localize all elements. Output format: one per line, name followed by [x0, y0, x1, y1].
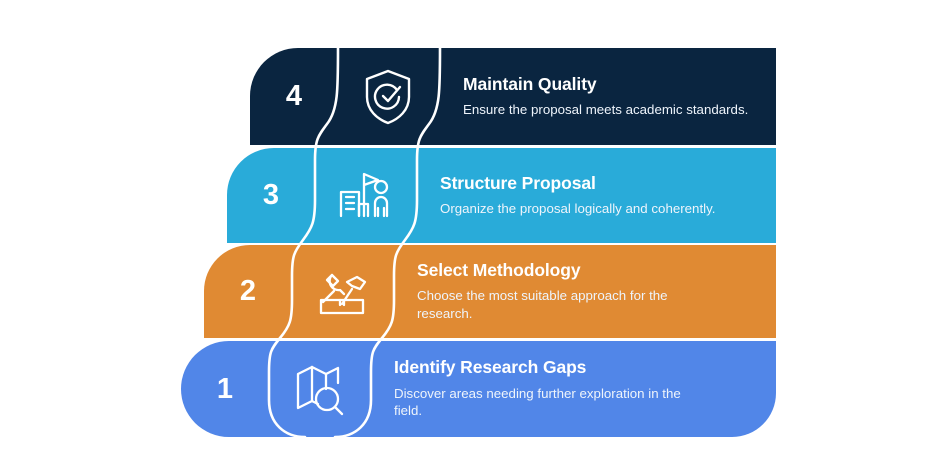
toolbox-wrench-hammer-icon	[314, 266, 370, 318]
step-number-4: 4	[250, 48, 338, 145]
step-description-4: Ensure the proposal meets academic stand…	[463, 101, 762, 119]
step-title-2: Select Methodology	[417, 261, 762, 280]
step-icon-3	[315, 148, 415, 243]
step-row-3[interactable]: 3 Structure Proposal Organize the propos…	[227, 148, 776, 243]
infographic-stage: 4 Maintain Quality Ensure the proposal m…	[0, 0, 952, 473]
step-row-4[interactable]: 4 Maintain Quality Ensure the proposal m…	[250, 48, 776, 145]
step-description-1: Discover areas needing further explorati…	[394, 385, 699, 420]
step-text-4: Maintain Quality Ensure the proposal mee…	[463, 48, 776, 145]
step-icon-1	[269, 341, 369, 437]
step-row-2[interactable]: 2 Select Methodology Choose the most sui…	[204, 245, 776, 338]
shield-check-icon	[362, 68, 414, 126]
step-number-1: 1	[181, 341, 269, 437]
step-text-3: Structure Proposal Organize the proposal…	[440, 148, 776, 243]
step-icon-4	[338, 48, 438, 145]
step-description-3: Organize the proposal logically and cohe…	[440, 200, 745, 218]
step-text-2: Select Methodology Choose the most suita…	[417, 245, 776, 338]
step-title-4: Maintain Quality	[463, 75, 762, 94]
map-search-icon	[292, 361, 346, 417]
step-number-3: 3	[227, 148, 315, 243]
step-row-1[interactable]: 1 Identify Research Gaps Discover areas …	[181, 341, 776, 437]
step-title-3: Structure Proposal	[440, 174, 762, 193]
step-text-1: Identify Research Gaps Discover areas ne…	[394, 341, 776, 437]
step-description-2: Choose the most suitable approach for th…	[417, 287, 722, 322]
step-title-1: Identify Research Gaps	[394, 358, 762, 377]
step-number-2: 2	[204, 245, 292, 338]
step-icon-2	[292, 245, 392, 338]
building-person-icon	[337, 170, 393, 222]
